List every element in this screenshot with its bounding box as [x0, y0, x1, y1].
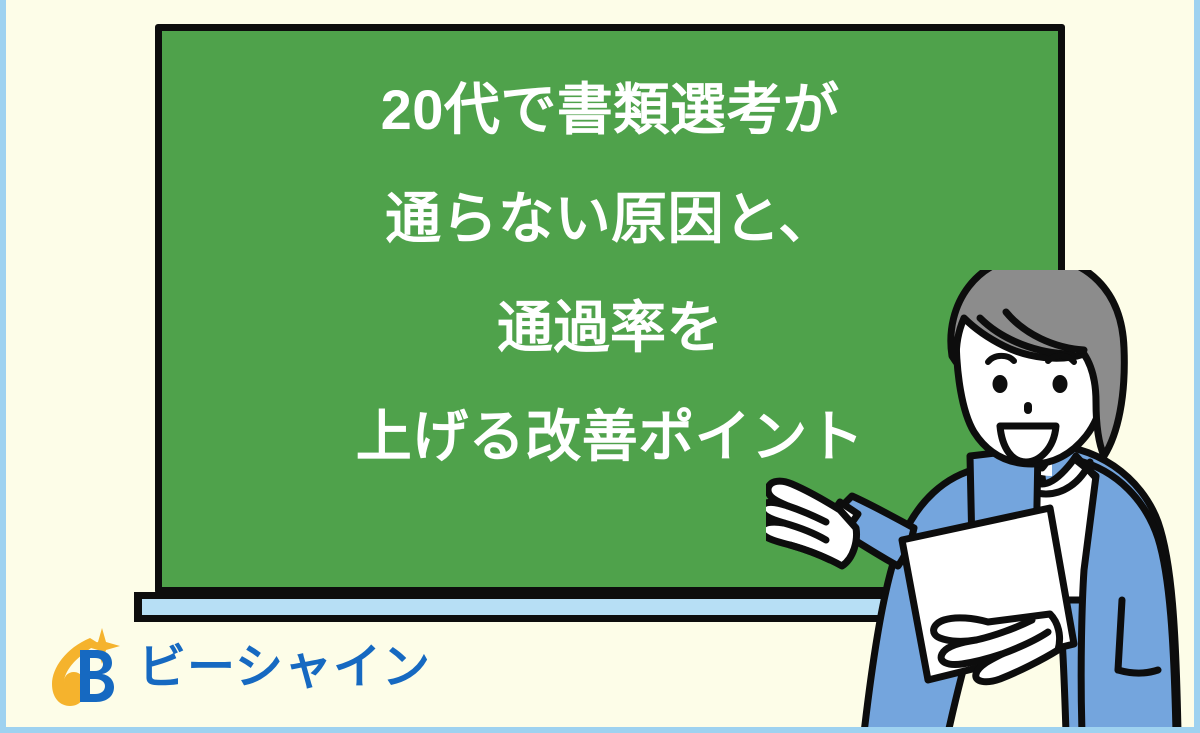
page-canvas: 20代で書類選考が 通らない原因と、 通過率を 上げる改善ポイント	[0, 0, 1200, 733]
left-eye	[993, 375, 1008, 393]
bshine-b-mark-icon	[46, 628, 124, 708]
woman-presenter-graphic	[766, 270, 1200, 733]
teacher-illustration	[766, 270, 1200, 733]
letter-b-shape	[80, 650, 114, 702]
brand-name-text: ビーシャイン	[138, 644, 431, 692]
right-eye	[1053, 375, 1068, 393]
brand-logo[interactable]: ビーシャイン	[46, 628, 431, 708]
cardigan-right-front	[1076, 460, 1176, 733]
